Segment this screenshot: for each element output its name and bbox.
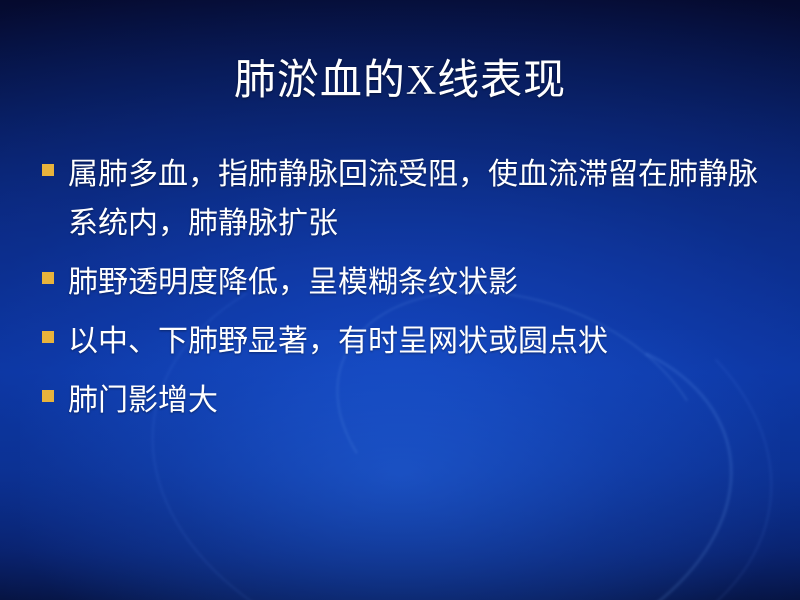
list-item: 属肺多血，指肺静脉回流受阻，使血流滞留在肺静脉系统内，肺静脉扩张 xyxy=(42,150,758,248)
list-item-label: 属肺多血，指肺静脉回流受阻，使血流滞留在肺静脉系统内，肺静脉扩张 xyxy=(68,150,758,248)
bullet-marker-icon xyxy=(42,390,54,402)
bullet-marker-icon xyxy=(42,331,54,343)
list-item: 以中、下肺野显著，有时呈网状或圆点状 xyxy=(42,317,758,366)
list-item: 肺门影增大 xyxy=(42,376,758,425)
bullet-list: 属肺多血，指肺静脉回流受阻，使血流滞留在肺静脉系统内，肺静脉扩张 肺野透明度降低… xyxy=(42,150,758,435)
presentation-slide: 肺淤血的X线表现 属肺多血，指肺静脉回流受阻，使血流滞留在肺静脉系统内，肺静脉扩… xyxy=(0,0,800,600)
bullet-marker-icon xyxy=(42,272,54,284)
list-item: 肺野透明度降低，呈模糊条纹状影 xyxy=(42,258,758,307)
list-item-label: 肺野透明度降低，呈模糊条纹状影 xyxy=(68,258,758,307)
slide-title: 肺淤血的X线表现 xyxy=(0,46,800,107)
list-item-label: 肺门影增大 xyxy=(68,376,758,425)
bullet-marker-icon xyxy=(42,164,54,176)
list-item-label: 以中、下肺野显著，有时呈网状或圆点状 xyxy=(68,317,758,366)
